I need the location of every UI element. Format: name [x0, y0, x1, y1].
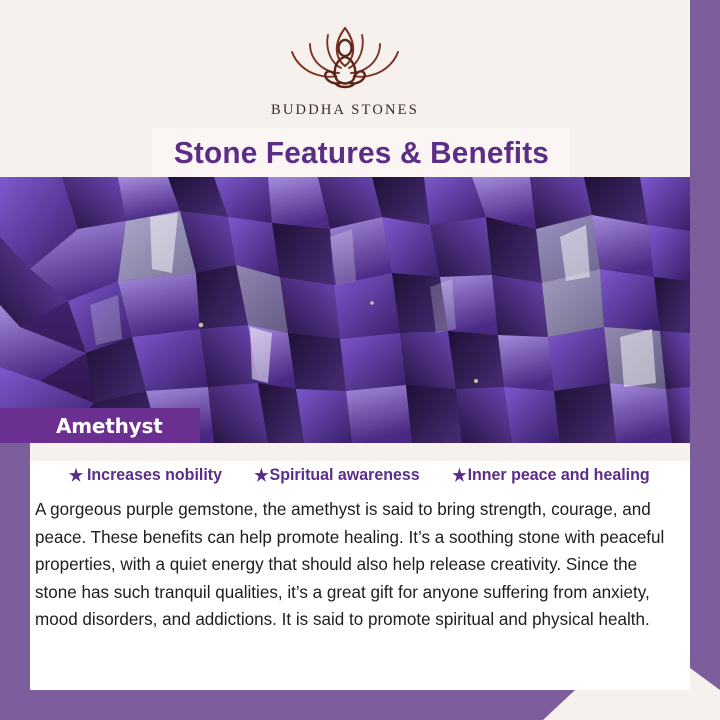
stone-info-card: BUDDHA STONES Stone Features & Benefits [0, 0, 720, 720]
benefit-label: Spiritual awareness [269, 465, 419, 485]
card-header: BUDDHA STONES Stone Features & Benefits [0, 0, 690, 177]
panel-top-strip [30, 443, 690, 461]
page-title-text: Stone Features & Benefits [173, 135, 548, 171]
stone-description: A gorgeous purple gemstone, the amethyst… [35, 496, 667, 634]
benefit-label: Inner peace and healing [468, 465, 650, 485]
benefit-item-inner-peace-and-healing: ★ Inner peace and healing [453, 465, 650, 485]
benefit-item-increases-nobility: ★ Increases nobility [69, 465, 222, 485]
benefit-item-spiritual-awareness: ★ Spiritual awareness [254, 465, 419, 485]
lotus-meditation-icon [270, 22, 420, 100]
stone-details-panel: ★ Increases nobility ★ Spiritual awarene… [30, 443, 690, 690]
brand-name: BUDDHA STONES [271, 102, 419, 119]
frame-band-left [0, 443, 30, 720]
stone-name-tag: Amethyst [0, 408, 200, 443]
star-icon: ★ [453, 467, 467, 484]
amethyst-crystal-cluster-photo [0, 177, 690, 443]
frame-band-bottom [0, 690, 575, 720]
benefit-label: Increases nobility [87, 465, 222, 485]
star-icon: ★ [69, 467, 83, 484]
benefits-list: ★ Increases nobility ★ Spiritual awarene… [30, 465, 690, 485]
brand-logo: BUDDHA STONES [0, 22, 690, 119]
star-icon: ★ [254, 467, 268, 484]
stone-photo [0, 177, 690, 443]
page-title: Stone Features & Benefits [152, 128, 570, 177]
frame-band-right [690, 0, 720, 690]
stone-name: Amethyst [56, 414, 163, 438]
